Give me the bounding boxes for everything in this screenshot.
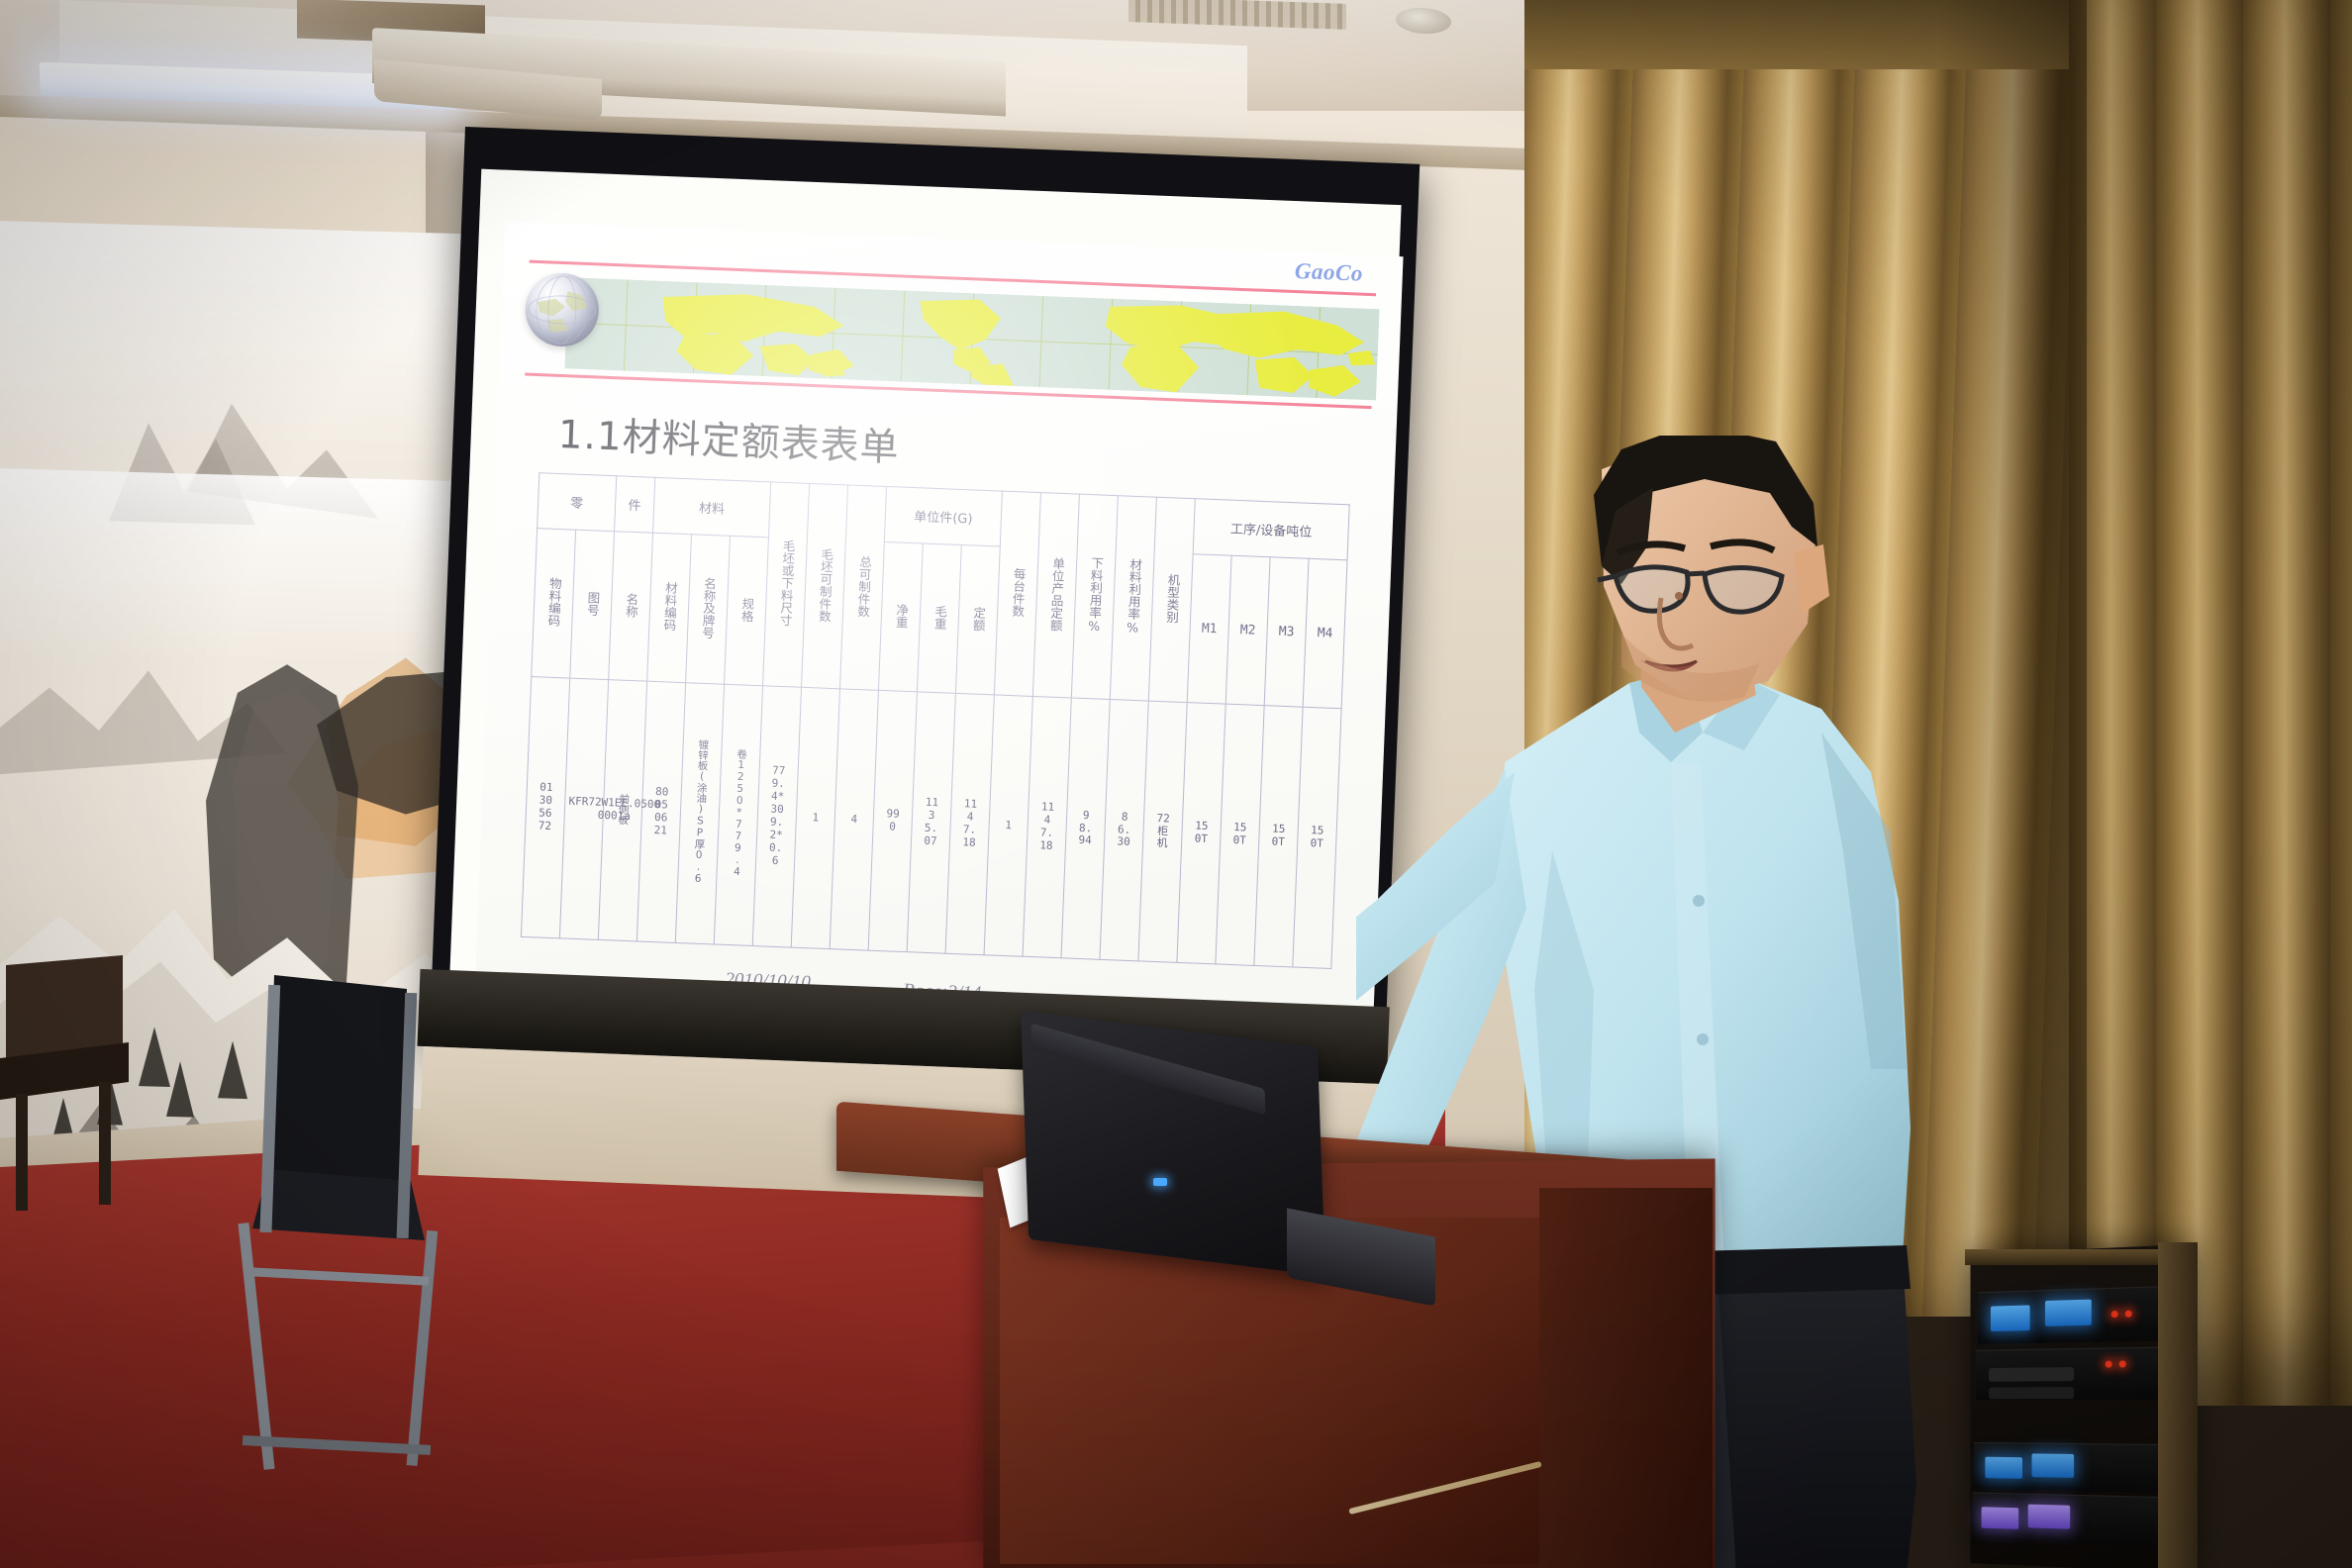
header-m1: M1 [1187, 554, 1231, 704]
header-material-code: 物料编码 [532, 529, 576, 678]
group-header-unit-weight: 单位件(G) [884, 486, 1002, 546]
slide-title: 1.1材料定额表表单 [557, 404, 901, 473]
material-quota-table: 零 件 材料 毛坯或下料尺寸 毛 [521, 472, 1350, 969]
rack-display-4 [2032, 1453, 2075, 1478]
smoke-detector-icon [1396, 7, 1451, 36]
group-header-piece: 件 [615, 476, 655, 533]
gaoco-logo: GaoCo [1294, 258, 1363, 287]
rack-frame [2158, 1242, 2198, 1568]
header-m2: M2 [1225, 555, 1270, 705]
header-gross-weight: 毛重 [917, 543, 961, 693]
rack-display-2 [2045, 1300, 2092, 1326]
rack-led-2 [2125, 1311, 2132, 1318]
rack-unit-3[interactable] [1974, 1442, 2167, 1493]
header-mat-name-grade: 名称及牌号 [686, 535, 731, 684]
header-quota: 定额 [955, 545, 1000, 695]
header-spec: 规格 [725, 536, 769, 685]
rack-unit-2[interactable] [1976, 1346, 2170, 1400]
chair-left[interactable] [0, 955, 129, 1213]
projection-screen: GaoCo [430, 127, 1420, 1074]
laptop-lid[interactable] [1021, 1011, 1325, 1276]
header-net-weight: 净重 [878, 541, 923, 691]
header-mat-code: 材料编码 [647, 533, 692, 682]
podium-side-panel [1539, 1188, 1713, 1568]
rack-display-6 [2028, 1505, 2070, 1529]
ceiling-vent [1128, 0, 1346, 30]
header-m4: M4 [1303, 558, 1347, 708]
header-name: 名称 [609, 532, 653, 681]
rack-slot-2 [1989, 1387, 2074, 1399]
presentation-slide: GaoCo [474, 222, 1404, 1056]
rack-led-4 [2119, 1360, 2126, 1367]
rack-slot-1 [1989, 1367, 2074, 1382]
table-head: 零 件 材料 毛坯或下料尺寸 毛 [532, 473, 1349, 709]
rack-display-5 [1982, 1507, 2019, 1529]
laptop-hinge [1030, 1024, 1265, 1116]
header-drawing-no: 图号 [570, 530, 615, 679]
group-header-part: 零 [538, 473, 617, 532]
laptop-power-led [1153, 1178, 1167, 1186]
rack-display-1 [1991, 1305, 2030, 1331]
table-body: 01305672 KFR72W1EE.05000001a 前侧板 8005062… [521, 677, 1341, 969]
header-m3: M3 [1264, 557, 1309, 707]
group-header-process-tonnage: 工序/设备吨位 [1193, 499, 1349, 560]
mural-glare [0, 221, 495, 472]
rack-unit-4[interactable] [1972, 1492, 2165, 1545]
rack-led-1 [2111, 1311, 2118, 1318]
rack-unit-1[interactable] [1978, 1286, 2172, 1344]
conference-room-scene: GaoCo [0, 0, 2352, 1568]
screen-surface: GaoCo [449, 169, 1402, 1029]
rack-display-3 [1985, 1457, 2022, 1479]
rack-led-3 [2106, 1361, 2112, 1368]
group-header-material: 材料 [653, 477, 771, 538]
table-row: 01305672 KFR72W1EE.05000001a 前侧板 8005062… [521, 677, 1341, 969]
globe-icon [524, 272, 600, 348]
